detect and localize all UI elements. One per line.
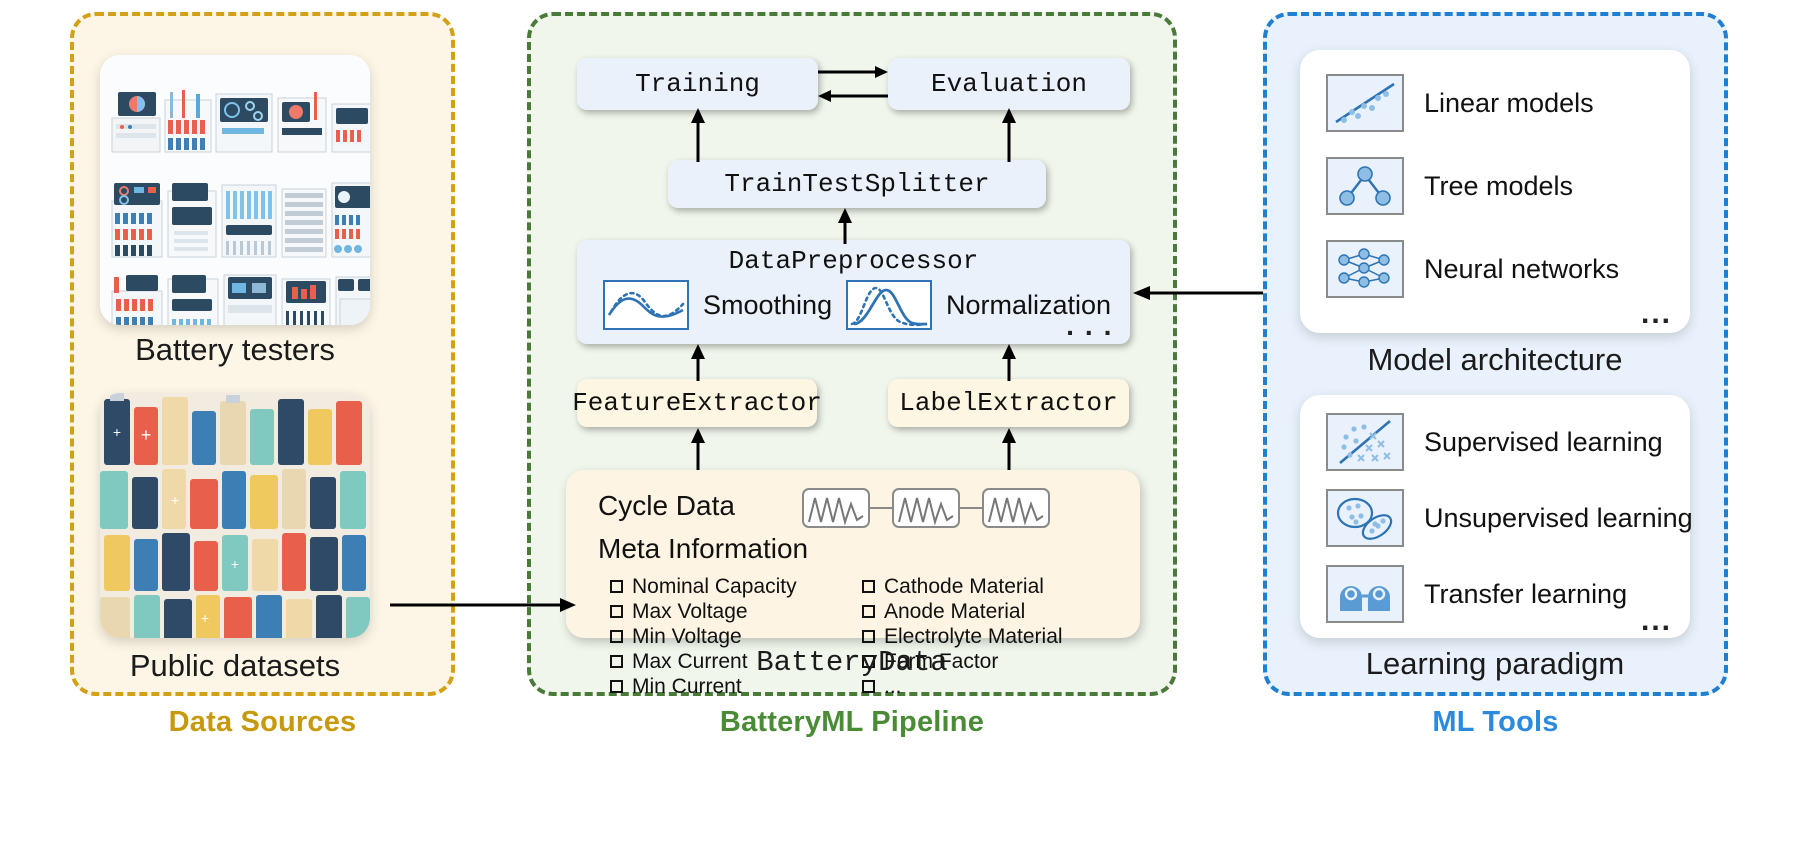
arrow-batterydata-to-feature: [690, 428, 706, 472]
caption-ml-tools: ML Tools: [1263, 706, 1728, 739]
arrow-splitter-to-evaluation: [1001, 108, 1017, 162]
tool-row-linear-models[interactable]: Linear models: [1326, 74, 1594, 132]
supervised-scatter-icon: [1326, 413, 1404, 471]
meta-checkbox-row[interactable]: Nominal Capacity: [610, 574, 797, 599]
tool-label: Tree models: [1424, 171, 1573, 202]
tool-label: Transfer learning: [1424, 579, 1627, 610]
checkbox-icon[interactable]: [610, 580, 623, 593]
node-labelextractor[interactable]: LabelExtractor: [888, 379, 1129, 427]
checkbox-icon[interactable]: [862, 605, 875, 618]
meta-item-label: Nominal Capacity: [632, 574, 797, 599]
cycle-waveform-icon: [892, 488, 960, 528]
node-evaluation[interactable]: Evaluation: [888, 58, 1130, 110]
svg-text:+: +: [141, 425, 152, 445]
smoothing-curve-icon: [603, 280, 689, 330]
caption-batteryml-pipeline: BatteryML Pipeline: [527, 706, 1177, 739]
tool-row-unsupervised-learning[interactable]: Unsupervised learning: [1326, 489, 1693, 547]
preprocessor-more-ellipsis: ...: [1062, 313, 1118, 344]
cycle-waveform-icon: [802, 488, 870, 528]
svg-text:+: +: [231, 556, 239, 572]
battery-testers-photo: [100, 55, 370, 325]
datapreprocessor-title: DataPreprocessor: [577, 246, 1130, 276]
arrow-training-evaluation: [818, 58, 888, 110]
meta-item-label: Anode Material: [884, 599, 1025, 624]
preprocessor-op-smoothing[interactable]: Smoothing: [603, 280, 832, 330]
checkbox-icon[interactable]: [862, 580, 875, 593]
svg-text:+: +: [171, 492, 179, 508]
tool-label: Unsupervised learning: [1424, 503, 1693, 534]
node-featureextractor[interactable]: FeatureExtractor: [577, 379, 817, 427]
tool-label: Neural networks: [1424, 254, 1619, 285]
tool-row-neural-networks[interactable]: Neural networks: [1326, 240, 1619, 298]
svg-text:+: +: [201, 610, 209, 626]
meta-item-label: Max Voltage: [632, 599, 748, 624]
arrow-feature-to-preprocessor: [690, 344, 706, 381]
arrow-batterydata-to-label: [1001, 428, 1017, 472]
node-training[interactable]: Training: [577, 58, 818, 110]
preprocessor-op-label: Smoothing: [703, 290, 832, 321]
card-learning-paradigm[interactable]: Supervised learning Unsupervised learnin…: [1300, 395, 1690, 638]
checkbox-icon[interactable]: [610, 605, 623, 618]
cycle-link: [960, 507, 982, 509]
meta-checkbox-row[interactable]: Anode Material: [862, 599, 1063, 624]
checkbox-icon[interactable]: [862, 630, 875, 643]
neural-network-icon: [1326, 240, 1404, 298]
arrow-preprocessor-to-splitter: [837, 208, 853, 244]
public-datasets-photo: +: [100, 393, 370, 638]
meta-information-title: Meta Information: [598, 533, 808, 565]
tool-label: Linear models: [1424, 88, 1594, 119]
meta-item-label: Cathode Material: [884, 574, 1044, 599]
node-traintestsplitter[interactable]: TrainTestSplitter: [668, 160, 1046, 208]
checkbox-icon[interactable]: [862, 680, 875, 693]
card-public-datasets[interactable]: +: [100, 393, 370, 638]
meta-list-left: Nominal CapacityMax VoltageMin VoltageMa…: [610, 574, 797, 699]
batterydata-content-box[interactable]: Cycle Data Meta Information Nominal Capa…: [566, 470, 1140, 638]
normalization-distribution-icon: [846, 280, 932, 330]
card-label-battery-testers: Battery testers: [100, 332, 370, 368]
caption-data-sources: Data Sources: [70, 706, 455, 739]
card-label-model-architecture: Model architecture: [1300, 342, 1690, 378]
clustering-icon: [1326, 489, 1404, 547]
meta-list-right: Cathode MaterialAnode MaterialElectrolyt…: [862, 574, 1063, 699]
card-label-public-datasets: Public datasets: [100, 648, 370, 684]
tool-row-supervised-learning[interactable]: Supervised learning: [1326, 413, 1663, 471]
transfer-heads-icon: [1326, 565, 1404, 623]
tool-row-transfer-learning[interactable]: Transfer learning: [1326, 565, 1627, 623]
model-architecture-more: ...: [1641, 297, 1672, 331]
card-model-architecture[interactable]: Linear models Tree models: [1300, 50, 1690, 333]
diagram-canvas: Battery testers +: [0, 0, 1800, 864]
meta-checkbox-row[interactable]: Cathode Material: [862, 574, 1063, 599]
card-label-learning-paradigm: Learning paradigm: [1300, 646, 1690, 682]
checkbox-icon[interactable]: [610, 630, 623, 643]
node-datapreprocessor[interactable]: DataPreprocessor Smoothing Normalization…: [577, 240, 1130, 344]
tool-label: Supervised learning: [1424, 427, 1663, 458]
linear-regression-icon: [1326, 74, 1404, 132]
decision-tree-icon: [1326, 157, 1404, 215]
svg-text:+: +: [113, 424, 121, 440]
checkbox-icon[interactable]: [610, 680, 623, 693]
learning-paradigm-more: ...: [1641, 604, 1672, 638]
tool-row-tree-models[interactable]: Tree models: [1326, 157, 1573, 215]
cycle-link: [870, 507, 892, 509]
cycle-data-segments: [802, 488, 1050, 528]
arrow-label-to-preprocessor: [1001, 344, 1017, 381]
cycle-waveform-icon: [982, 488, 1050, 528]
arrow-splitter-to-training: [690, 108, 706, 162]
card-battery-testers[interactable]: [100, 55, 370, 325]
meta-checkbox-row[interactable]: Max Voltage: [610, 599, 797, 624]
arrow-datasources-to-batterydata: [390, 595, 576, 615]
batterydata-footer-label: BatteryData: [527, 646, 1177, 679]
cycle-data-title: Cycle Data: [598, 490, 735, 522]
